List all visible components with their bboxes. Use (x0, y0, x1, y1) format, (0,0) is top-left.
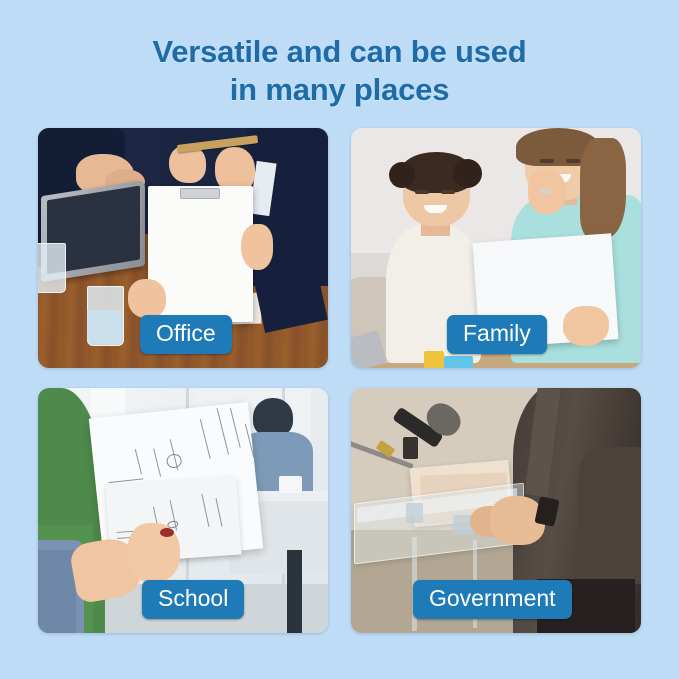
family-woman-eye-right (566, 159, 581, 163)
panel-office[interactable]: Office (38, 128, 328, 368)
panel-grid: Office (38, 128, 641, 633)
family-woman-hair-side (580, 138, 626, 239)
panel-school[interactable]: School (38, 388, 328, 633)
office-right-hand-holding-clipboard (241, 224, 273, 270)
panel-label-family[interactable]: Family (447, 315, 547, 354)
family-woman-eye-left (540, 159, 555, 163)
school-background-student-head (253, 398, 294, 437)
family-girl-hair-bun-right (453, 159, 482, 188)
school-jeans-shadow (38, 550, 76, 633)
page-title: Versatile and can be used in many places (0, 33, 679, 109)
office-water-glass-fill (87, 310, 122, 344)
school-background-leg (287, 550, 302, 633)
page-title-line-1: Versatile and can be used (0, 33, 679, 71)
government-suit-arm (577, 447, 641, 584)
family-girl-eye-left (415, 190, 430, 194)
panel-label-government[interactable]: Government (413, 580, 572, 619)
family-girl-smile (424, 205, 447, 213)
family-blue-object (444, 356, 473, 368)
office-water-glass-back (38, 243, 66, 293)
panel-government[interactable]: Government (351, 388, 641, 633)
panel-label-school[interactable]: School (142, 580, 244, 619)
panel-family[interactable]: Family (351, 128, 641, 368)
family-woman-ring (540, 188, 552, 194)
poster-root: Versatile and can be used in many places (0, 0, 679, 679)
office-clipboard-clamp (180, 188, 220, 199)
family-yellow-object (424, 351, 444, 368)
panel-label-office[interactable]: Office (140, 315, 232, 354)
family-girl-eye-right (441, 190, 456, 194)
government-lectern-bracket-left (406, 503, 423, 523)
family-girl-hair-bun-left (389, 162, 415, 188)
page-title-line-2: in many places (0, 71, 679, 109)
school-background-cup (279, 476, 302, 493)
government-microphone-mount (403, 437, 418, 459)
office-front-hand (128, 279, 166, 317)
family-woman-hand-holding-paper (563, 306, 609, 347)
office-right-sleeve (253, 259, 328, 333)
